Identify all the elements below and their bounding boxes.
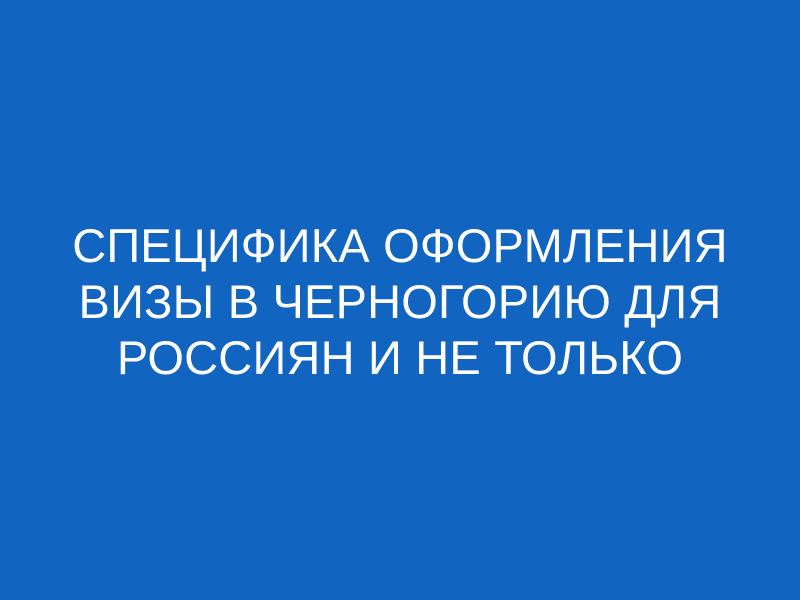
title-line-2: ВИЗЫ В ЧЕРНОГОРИЮ ДЛЯ [40, 274, 760, 330]
page-title: СПЕЦИФИКА ОФОРМЛЕНИЯ ВИЗЫ В ЧЕРНОГОРИЮ Д… [0, 218, 800, 386]
title-line-3: РОССИЯН И НЕ ТОЛЬКО [40, 330, 760, 386]
title-line-1: СПЕЦИФИКА ОФОРМЛЕНИЯ [40, 218, 760, 274]
title-slide: СПЕЦИФИКА ОФОРМЛЕНИЯ ВИЗЫ В ЧЕРНОГОРИЮ Д… [0, 0, 800, 600]
